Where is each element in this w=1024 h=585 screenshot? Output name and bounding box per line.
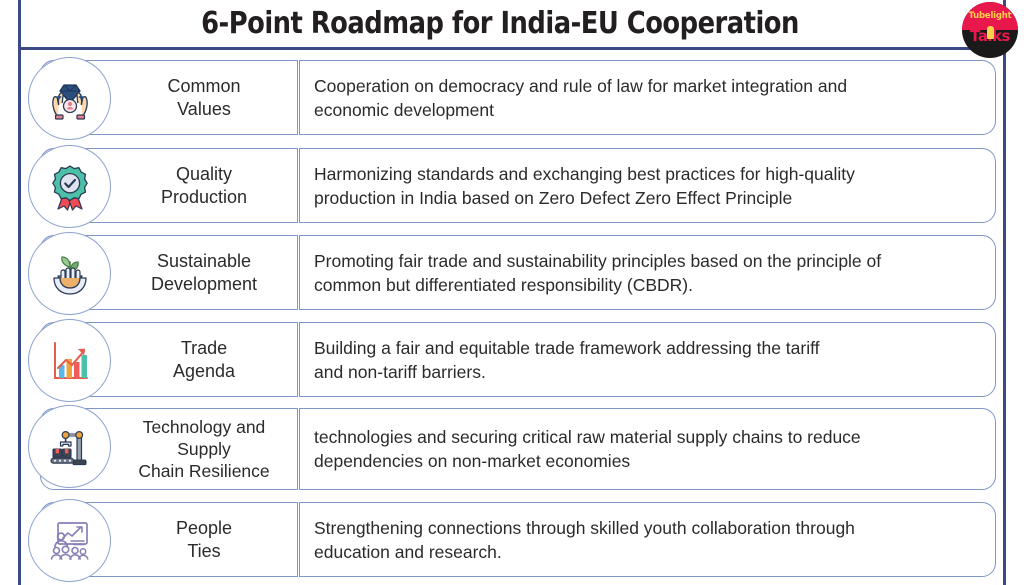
header: 6-Point Roadmap for India-EU Cooperation	[0, 0, 1024, 47]
page-title: 6-Point Roadmap for India-EU Cooperation	[122, 6, 879, 41]
row-label: People Ties	[128, 502, 280, 577]
hands-holding-diamond-icon	[28, 57, 111, 140]
row-description: Promoting fair trade and sustainability …	[314, 235, 990, 310]
row-label: Quality Production	[128, 148, 280, 223]
brand-name-line-1: Tubelight	[962, 11, 1018, 21]
presentation-audience-icon	[28, 499, 111, 582]
roadmap-row: Quality Production Harmonizing standards…	[28, 148, 996, 223]
brand-logo-badge: Tubelight Talks	[962, 2, 1018, 58]
row-description: Building a fair and equitable trade fram…	[314, 322, 990, 397]
roadmap-row: Sustainable Development Promoting fair t…	[28, 235, 996, 310]
quality-award-rosette-icon	[28, 145, 111, 228]
roadmap-row: Technology and Supply Chain Resilience t…	[28, 408, 996, 490]
row-description: Harmonizing standards and exchanging bes…	[314, 148, 990, 223]
row-description: Strengthening connections through skille…	[314, 502, 990, 577]
row-label: Technology and Supply Chain Resilience	[128, 408, 280, 490]
tubelight-bulb-icon	[987, 26, 994, 39]
row-label: Sustainable Development	[128, 235, 280, 310]
row-description: Cooperation on democracy and rule of law…	[314, 60, 990, 135]
roadmap-row: Trade Agenda Building a fair and equitab…	[28, 322, 996, 397]
roadmap-row: Common Values Cooperation on democracy a…	[28, 60, 996, 135]
robotic-arm-conveyor-icon	[28, 405, 111, 488]
bar-chart-growth-icon	[28, 319, 111, 402]
roadmap-rows: Common Values Cooperation on democracy a…	[0, 50, 1024, 585]
roadmap-row: People Ties Strengthening connections th…	[28, 502, 996, 577]
row-label: Common Values	[128, 60, 280, 135]
row-description: technologies and securing critical raw m…	[314, 408, 990, 490]
row-label: Trade Agenda	[128, 322, 280, 397]
hands-holding-sprout-icon	[28, 232, 111, 315]
infographic-page: 6-Point Roadmap for India-EU Cooperation…	[0, 0, 1024, 585]
